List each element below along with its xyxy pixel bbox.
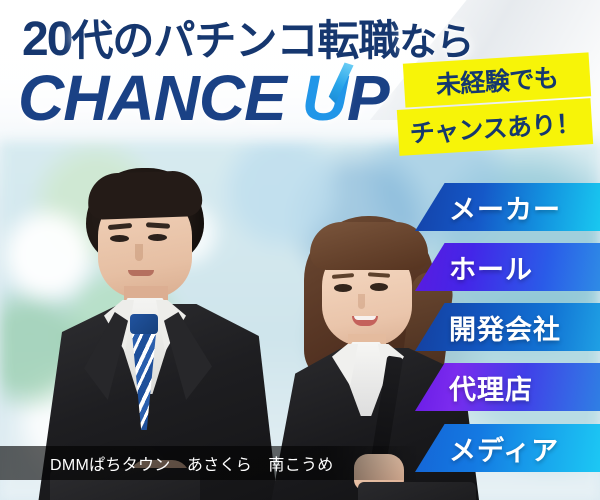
badge-1-label: 未経験でも: [435, 58, 559, 101]
advertisement-banner[interactable]: 20代のパチンコ転職なら CHANCE U P 未経験でも チャンスあり！ メー…: [0, 0, 600, 500]
category-label-agency: 代理店: [449, 368, 533, 407]
caption-bar: DMMぱちタウン あさくら 南こうめ: [0, 446, 420, 480]
category-item-agency[interactable]: 代理店: [415, 363, 600, 411]
category-label-hall: ホール: [449, 248, 533, 287]
category-item-maker[interactable]: メーカー: [415, 183, 600, 231]
category-item-development-company[interactable]: 開発会社: [415, 303, 600, 351]
caption-text: DMMぱちタウン あさくら 南こうめ: [50, 451, 334, 475]
category-label-development-company: 開発会社: [449, 308, 561, 347]
category-item-media[interactable]: メディア: [415, 424, 600, 472]
category-item-hall[interactable]: ホール: [415, 243, 600, 291]
category-label-media: メディア: [449, 429, 559, 468]
badge-2-label: チャンスあり！: [409, 104, 582, 150]
category-label-maker: メーカー: [449, 188, 561, 227]
